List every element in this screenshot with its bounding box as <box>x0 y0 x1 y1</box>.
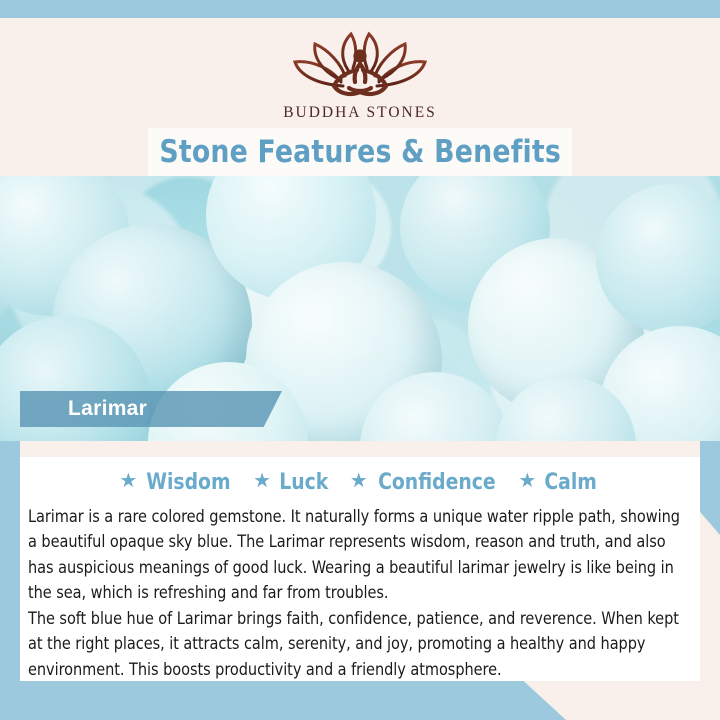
benefit-label: Wisdom <box>147 470 231 495</box>
benefits-row: ★ Wisdom ★ Luck ★ Confidence ★ Calm <box>28 465 690 499</box>
benefit-item-calm: ★ Calm <box>518 470 598 495</box>
stone-name: Larimar <box>68 397 147 421</box>
decorative-left-border <box>0 441 20 681</box>
product-infographic: BUDDHA STONES Stone Features & Benefits … <box>0 0 720 720</box>
page-title: Stone Features & Benefits <box>159 134 561 170</box>
description-paragraph-1: Larimar is a rare colored gemstone. It n… <box>28 504 680 606</box>
header: BUDDHA STONES Stone Features & Benefits <box>0 18 720 176</box>
stone-name-bar: Larimar <box>20 391 282 427</box>
decorative-top-border <box>0 0 720 18</box>
star-icon: ★ <box>253 471 271 491</box>
brand-name: BUDDHA STONES <box>0 104 720 122</box>
description-paragraph-2: The soft blue hue of Larimar brings fait… <box>28 606 680 682</box>
star-icon: ★ <box>518 471 536 491</box>
benefit-label: Confidence <box>378 470 496 495</box>
brand-logo: BUDDHA STONES <box>0 26 720 122</box>
content-panel: ★ Wisdom ★ Luck ★ Confidence ★ Calm Lari… <box>20 457 700 681</box>
title-banner: Stone Features & Benefits <box>148 128 572 176</box>
benefit-label: Luck <box>279 470 328 495</box>
star-icon: ★ <box>350 471 368 491</box>
star-icon: ★ <box>119 471 137 491</box>
benefit-item-wisdom: ★ Wisdom <box>119 470 233 495</box>
benefit-item-confidence: ★ Confidence <box>350 470 499 495</box>
benefit-label: Calm <box>545 470 598 495</box>
decorative-bottom-border <box>0 681 566 720</box>
content-top-strip <box>20 441 700 457</box>
decorative-right-accent <box>700 430 720 535</box>
benefit-item-luck: ★ Luck <box>253 470 330 495</box>
description-block: Larimar is a rare colored gemstone. It n… <box>28 504 680 682</box>
gemstone-photo: Larimar <box>0 176 720 441</box>
lotus-meditation-icon <box>285 26 435 102</box>
